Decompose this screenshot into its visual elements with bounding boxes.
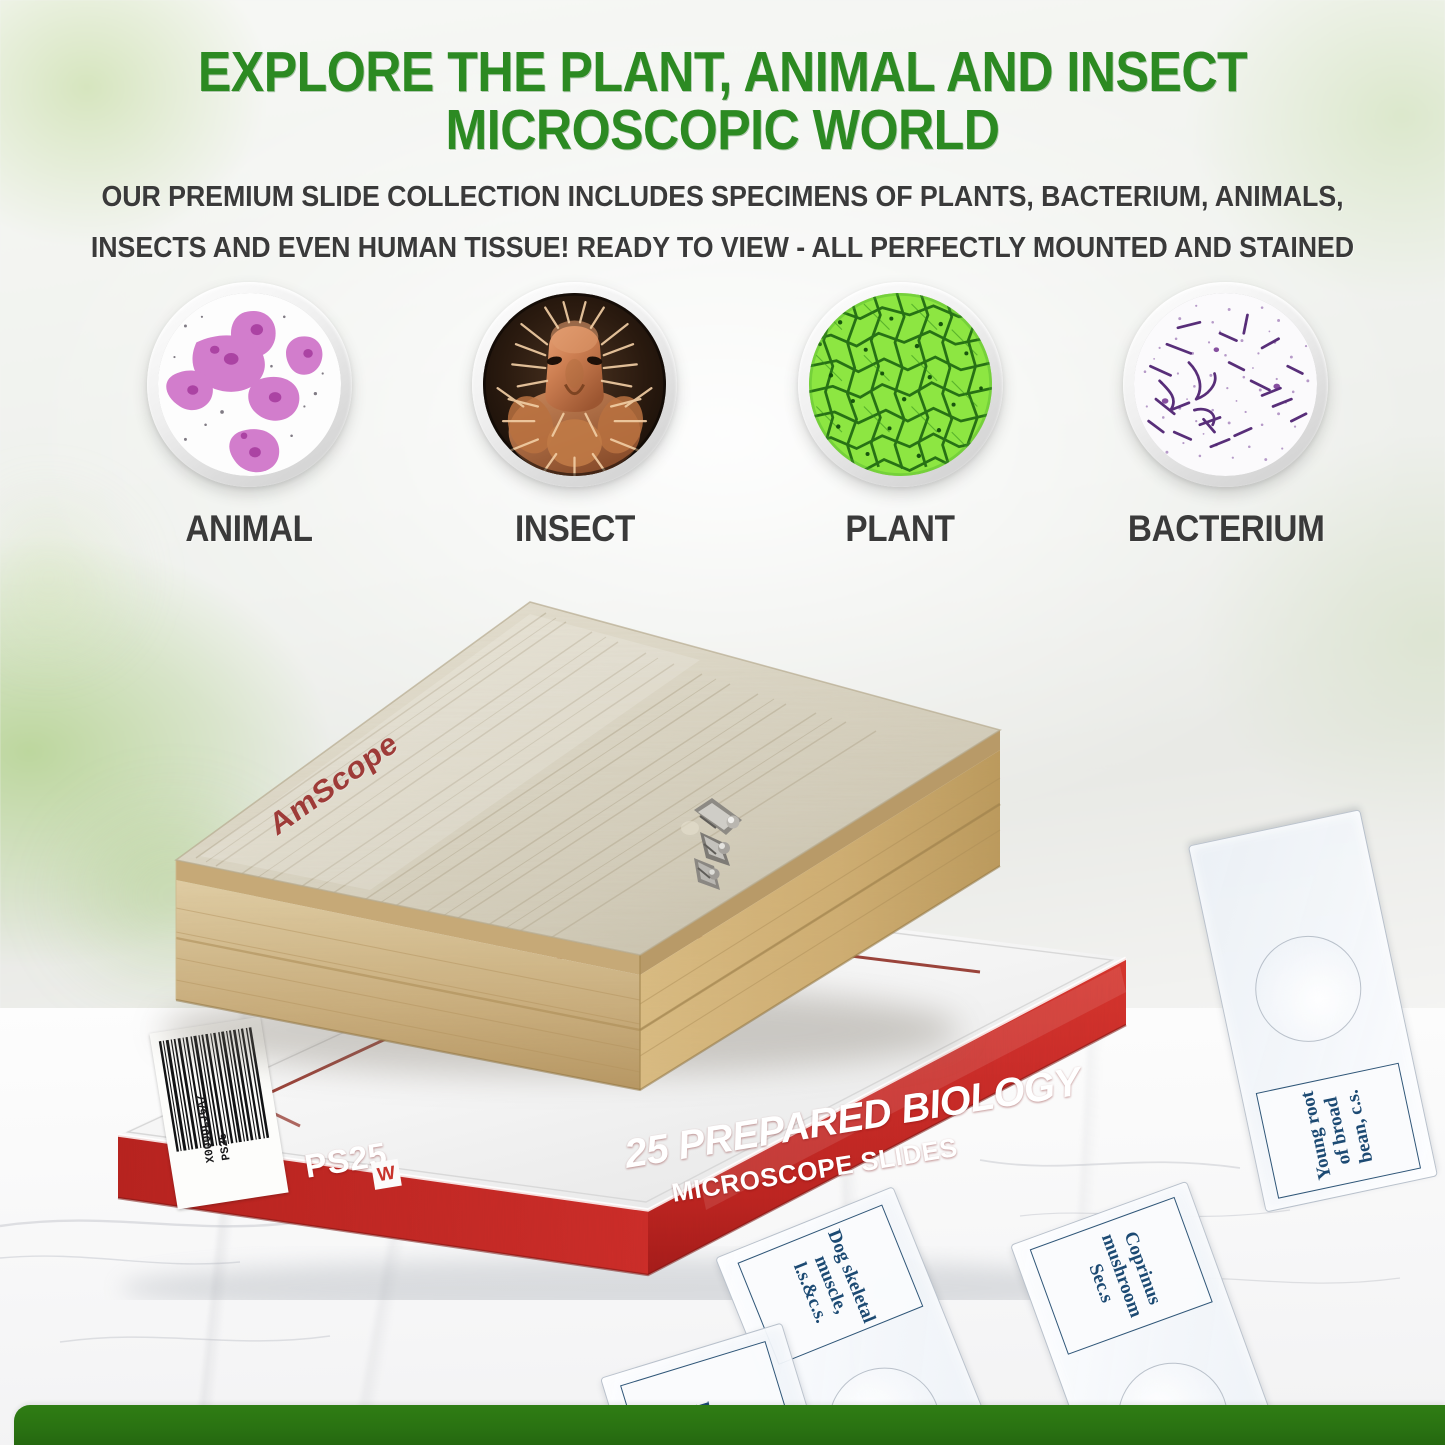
slide-specimen-spot [1245,926,1371,1052]
slide-label-text: Dog skeletal muscle, l.s.&c.s. [780,1224,880,1345]
specimen-disc-frame [1123,282,1328,487]
specimen-label: INSECT [477,508,673,550]
specimen-bacterium: BACTERIUM [1117,282,1335,550]
bacteria-stain-micrograph-icon [1134,293,1317,476]
specimen-label: BACTERIUM [1128,508,1324,550]
subheadline-line-1: OUR PREMIUM SLIDE COLLECTION INCLUDES SP… [72,172,1374,223]
footer-green-bar [14,1405,1445,1445]
insect-sem-micrograph-icon [483,293,666,476]
specimen-disc-frame [798,282,1003,487]
page-subheadline: OUR PREMIUM SLIDE COLLECTION INCLUDES SP… [72,172,1374,273]
specimen-disc-frame [147,282,352,487]
page-headline: EXPLORE THE PLANT, ANIMAL AND INSECT MIC… [87,44,1359,159]
slide-label-text: Young root of broad bean, c.s. [1295,1074,1381,1188]
subheadline-line-2: INSECTS AND EVEN HUMAN TISSUE! READY TO … [72,223,1374,274]
animal-cells-micrograph-icon [158,293,341,476]
specimen-label: ANIMAL [151,508,347,550]
headline-line-1: EXPLORE THE PLANT, ANIMAL AND INSECT [87,44,1359,102]
slide-label-plate: Young root of broad bean, c.s. [1256,1063,1421,1199]
specimen-label: PLANT [802,508,998,550]
headline-line-2: MICROSCOPIC WORLD [87,102,1359,160]
specimen-insect: INSECT [466,282,684,550]
slide-label-text: Coprinus mushroom Sec.s [1072,1215,1170,1337]
carton-sku-badge: W [371,1159,402,1190]
specimen-animal: ANIMAL [140,282,358,550]
specimen-plant: PLANT [791,282,1009,550]
specimen-disc-frame [472,282,677,487]
specimen-gallery: ANIMAL [140,282,1335,572]
product-infographic: EXPLORE THE PLANT, ANIMAL AND INSECT MIC… [0,0,1445,1445]
plant-cells-micrograph-icon [809,293,992,476]
